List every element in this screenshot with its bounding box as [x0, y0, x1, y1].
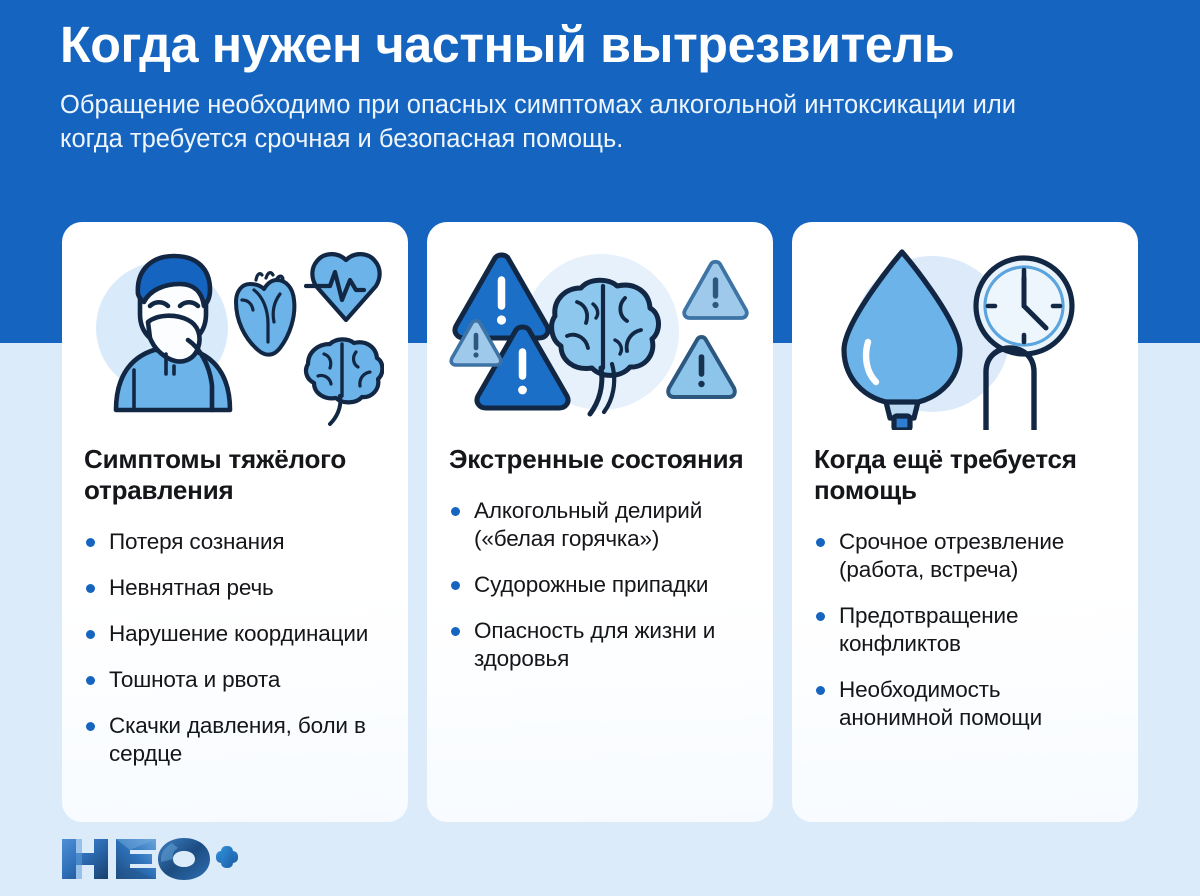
bullet-dot-icon [816, 612, 825, 621]
list-item: Нарушение координации [84, 620, 386, 648]
brain-icon [306, 339, 382, 424]
logo-plus-icon [216, 846, 238, 868]
card-severe-poisoning: Симптомы тяжёлого отравления Потеря созн… [62, 222, 408, 822]
bullet-dot-icon [816, 686, 825, 695]
warning-triangle-icon [668, 337, 735, 397]
list-item-label: Потеря сознания [109, 529, 284, 554]
neo-plus-logo-icon [60, 837, 240, 881]
page-title: Когда нужен частный вытрезвитель [60, 14, 1134, 76]
card-title: Экстренные состояния [449, 444, 751, 475]
card-bullet-list: Потеря сознания Невнятная речь Нарушение… [84, 528, 386, 768]
list-item-label: Скачки давления, боли в сердце [109, 713, 366, 766]
header: Когда нужен частный вытрезвитель Обращен… [60, 14, 1150, 156]
bullet-dot-icon [816, 538, 825, 547]
list-item-label: Предотвращение конфликтов [839, 603, 1018, 656]
brand-logo [60, 838, 240, 880]
heartbeat-heart-icon [306, 254, 380, 320]
list-item-label: Тошнота и рвота [109, 667, 280, 692]
list-item-label: Алкогольный делирий («белая горячка») [474, 498, 702, 551]
list-item-label: Срочное отрезвление (работа, встреча) [839, 529, 1064, 582]
logo-letter-o [158, 838, 210, 880]
additional-help-illustration [814, 244, 1116, 430]
list-item-label: Нарушение координации [109, 621, 368, 646]
list-item: Алкогольный делирий («белая горячка») [449, 497, 751, 553]
bullet-dot-icon [86, 538, 95, 547]
list-item: Предотвращение конфликтов [814, 602, 1116, 658]
page-subtitle: Обращение необходимо при опасных симптом… [60, 88, 1070, 156]
list-item: Необходимость анонимной помощи [814, 676, 1116, 732]
clock-icon [976, 258, 1072, 354]
card-additional-help: Когда ещё требуется помощь Срочное отрез… [792, 222, 1138, 822]
logo-letter-e [116, 839, 156, 879]
list-item: Невнятная речь [84, 574, 386, 602]
list-item-label: Невнятная речь [109, 575, 274, 600]
card-title: Симптомы тяжёлого отравления [84, 444, 386, 506]
list-item: Скачки давления, боли в сердце [84, 712, 386, 768]
list-item: Опасность для жизни и здоровья [449, 617, 751, 673]
list-item: Срочное отрезвление (работа, встреча) [814, 528, 1116, 584]
bullet-dot-icon [86, 676, 95, 685]
list-item: Судорожные припадки [449, 571, 751, 599]
bullet-dot-icon [86, 722, 95, 731]
severe-poisoning-illustration [84, 244, 386, 430]
emergency-states-illustration [449, 244, 751, 430]
bullet-dot-icon [451, 507, 460, 516]
warning-triangle-icon [684, 262, 747, 318]
card-bullet-list: Срочное отрезвление (работа, встреча) Пр… [814, 528, 1116, 732]
list-item: Потеря сознания [84, 528, 386, 556]
anatomical-heart-icon [236, 273, 294, 355]
bullet-dot-icon [451, 581, 460, 590]
card-bullet-list: Алкогольный делирий («белая горячка») Су… [449, 497, 751, 673]
card-title: Когда ещё требуется помощь [814, 444, 1116, 506]
infographic-page: Когда нужен частный вытрезвитель Обращен… [0, 0, 1200, 896]
list-item-label: Судорожные припадки [474, 572, 708, 597]
list-item-label: Необходимость анонимной помощи [839, 677, 1042, 730]
list-item: Тошнота и рвота [84, 666, 386, 694]
bullet-dot-icon [86, 584, 95, 593]
logo-letter-n [62, 839, 108, 879]
list-item-label: Опасность для жизни и здоровья [474, 618, 715, 671]
bullet-dot-icon [451, 627, 460, 636]
card-emergency-states: Экстренные состояния Алкогольный делирий… [427, 222, 773, 822]
cards-row: Симптомы тяжёлого отравления Потеря созн… [62, 222, 1138, 822]
bullet-dot-icon [86, 630, 95, 639]
